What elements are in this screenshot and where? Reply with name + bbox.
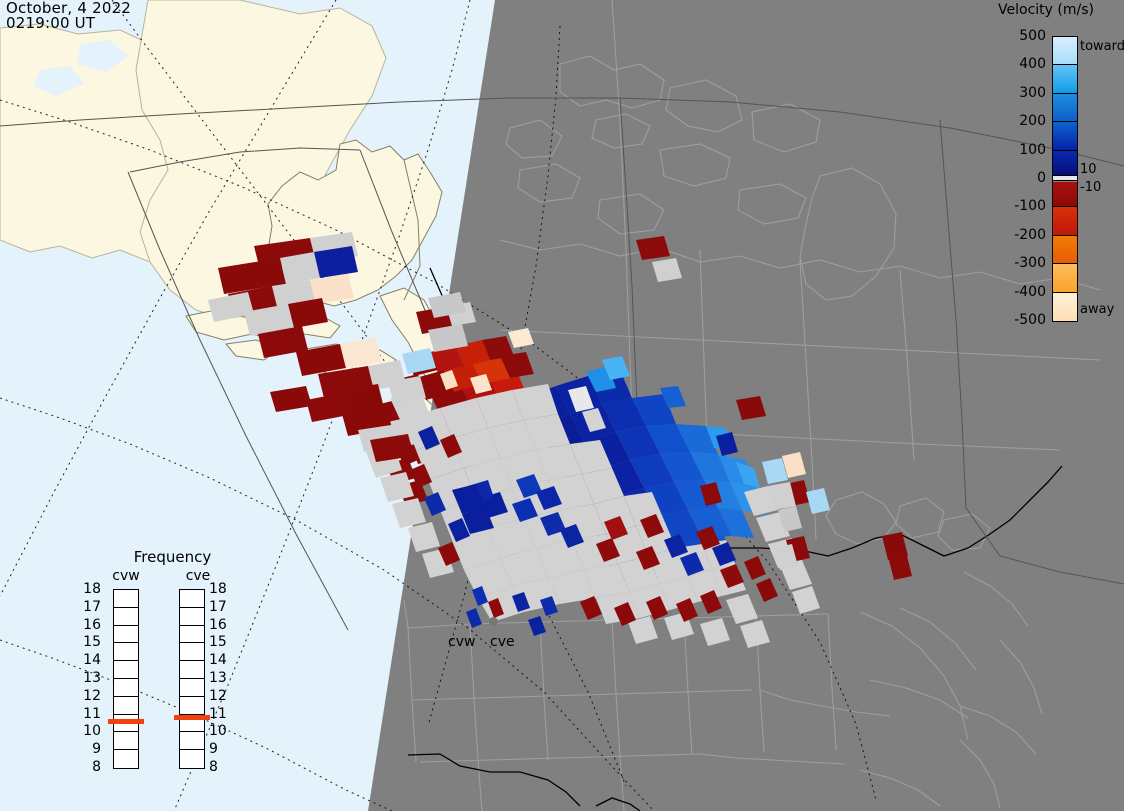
frequency-segment	[114, 679, 138, 697]
frequency-tick-18: 18	[209, 582, 233, 596]
frequency-segment	[114, 590, 138, 608]
frequency-tick-15: 15	[209, 635, 233, 649]
frequency-segment	[114, 732, 138, 750]
frequency-segment	[114, 750, 138, 768]
frequency-segment	[180, 626, 204, 644]
colorbar-title: Velocity (m/s)	[980, 2, 1112, 18]
frequency-title: Frequency	[85, 548, 260, 566]
colorbar-gs-lower-label: -10	[1080, 181, 1101, 194]
colorbar-away-label: away	[1080, 303, 1114, 316]
colorbar-band-100-200	[1053, 122, 1077, 150]
radar-site-dot	[489, 617, 498, 626]
timestamp: October, 4 20220219:00 UT	[6, 1, 131, 31]
frequency-radar-name-cvw: cvw	[91, 568, 161, 584]
frequency-segment	[180, 608, 204, 626]
colorbar-gradient	[1052, 36, 1078, 322]
frequency-segment	[180, 661, 204, 679]
frequency-tick-18: 18	[77, 582, 101, 596]
frequency-marker-cvw	[108, 719, 144, 724]
frequency-tick-10: 10	[209, 724, 233, 738]
colorbar-tick--200: -200	[980, 228, 1046, 242]
colorbar-band--500--400	[1053, 293, 1077, 321]
frequency-segment	[114, 697, 138, 715]
frequency-segment	[114, 661, 138, 679]
colorbar-ground-scatter-band	[1053, 175, 1077, 181]
frequency-tick-12: 12	[77, 689, 101, 703]
radar-site-label-cvw: cvw	[448, 635, 475, 649]
colorbar-band-10-100	[1053, 151, 1077, 177]
colorbar-toward-label: toward	[1080, 40, 1124, 53]
colorbar-band-300-400	[1053, 65, 1077, 93]
frequency-tick-12: 12	[209, 689, 233, 703]
frequency-column-cvw: cvw 18171615141312111098	[91, 568, 161, 796]
frequency-tick-8: 8	[77, 760, 101, 774]
colorbar-band-400-500	[1053, 37, 1077, 65]
frequency-ticks-cvw: 18171615141312111098	[77, 582, 101, 778]
frequency-segment	[180, 732, 204, 750]
frequency-tick-16: 16	[209, 618, 233, 632]
colorbar-band--100--10	[1053, 182, 1077, 208]
colorbar-tick-300: 300	[980, 86, 1046, 100]
fan-plot-canvas: October, 4 20220219:00 UT cvw cve Veloci…	[0, 0, 1124, 811]
frequency-tick-17: 17	[209, 600, 233, 614]
frequency-tick-10: 10	[77, 724, 101, 738]
colorbar-band--200--100	[1053, 207, 1077, 235]
frequency-column-cve: cve 18171615141312111098	[163, 568, 233, 796]
frequency-tick-16: 16	[77, 618, 101, 632]
frequency-tick-13: 13	[209, 671, 233, 685]
colorbar-tick--100: -100	[980, 199, 1046, 213]
timestamp-time: 0219:00 UT	[6, 14, 95, 32]
frequency-tick-14: 14	[77, 653, 101, 667]
colorbar-tick--400: -400	[980, 285, 1046, 299]
frequency-marker-cve	[174, 715, 210, 720]
frequency-segment	[180, 679, 204, 697]
frequency-panel: Frequency cvw 18171615141312111098 cve 1…	[85, 548, 260, 796]
frequency-bar-cve	[179, 589, 205, 769]
colorbar-tick-0: 0	[980, 171, 1046, 185]
velocity-colorbar: Velocity (m/s) 5004003002001000-100-200-…	[980, 0, 1124, 330]
frequency-segment	[180, 697, 204, 715]
colorbar-gs-upper-label: 10	[1080, 163, 1097, 176]
colorbar-tick--300: -300	[980, 256, 1046, 270]
colorbar-tick-200: 200	[980, 114, 1046, 128]
frequency-tick-13: 13	[77, 671, 101, 685]
frequency-segment	[180, 750, 204, 768]
frequency-tick-15: 15	[77, 635, 101, 649]
frequency-bar-cvw	[113, 589, 139, 769]
frequency-tick-11: 11	[77, 707, 101, 721]
frequency-tick-11: 11	[209, 707, 233, 721]
frequency-tick-9: 9	[209, 742, 233, 756]
colorbar-band-200-300	[1053, 94, 1077, 122]
frequency-ticks-cve: 18171615141312111098	[209, 582, 233, 778]
colorbar-band--400--300	[1053, 264, 1077, 292]
frequency-segment	[114, 626, 138, 644]
frequency-segment	[180, 590, 204, 608]
frequency-segment	[114, 643, 138, 661]
colorbar-tick-100: 100	[980, 143, 1046, 157]
frequency-segment	[114, 608, 138, 626]
frequency-tick-8: 8	[209, 760, 233, 774]
radar-site-label-cve: cve	[490, 635, 515, 649]
colorbar-band--300--200	[1053, 236, 1077, 264]
frequency-tick-9: 9	[77, 742, 101, 756]
frequency-segment	[180, 643, 204, 661]
colorbar-tick-400: 400	[980, 57, 1046, 71]
colorbar-tick-labels: 5004003002001000-100-200-300-400-500	[980, 28, 1046, 328]
frequency-tick-14: 14	[209, 653, 233, 667]
colorbar-tick-500: 500	[980, 29, 1046, 43]
colorbar-tick--500: -500	[980, 313, 1046, 327]
frequency-tick-17: 17	[77, 600, 101, 614]
